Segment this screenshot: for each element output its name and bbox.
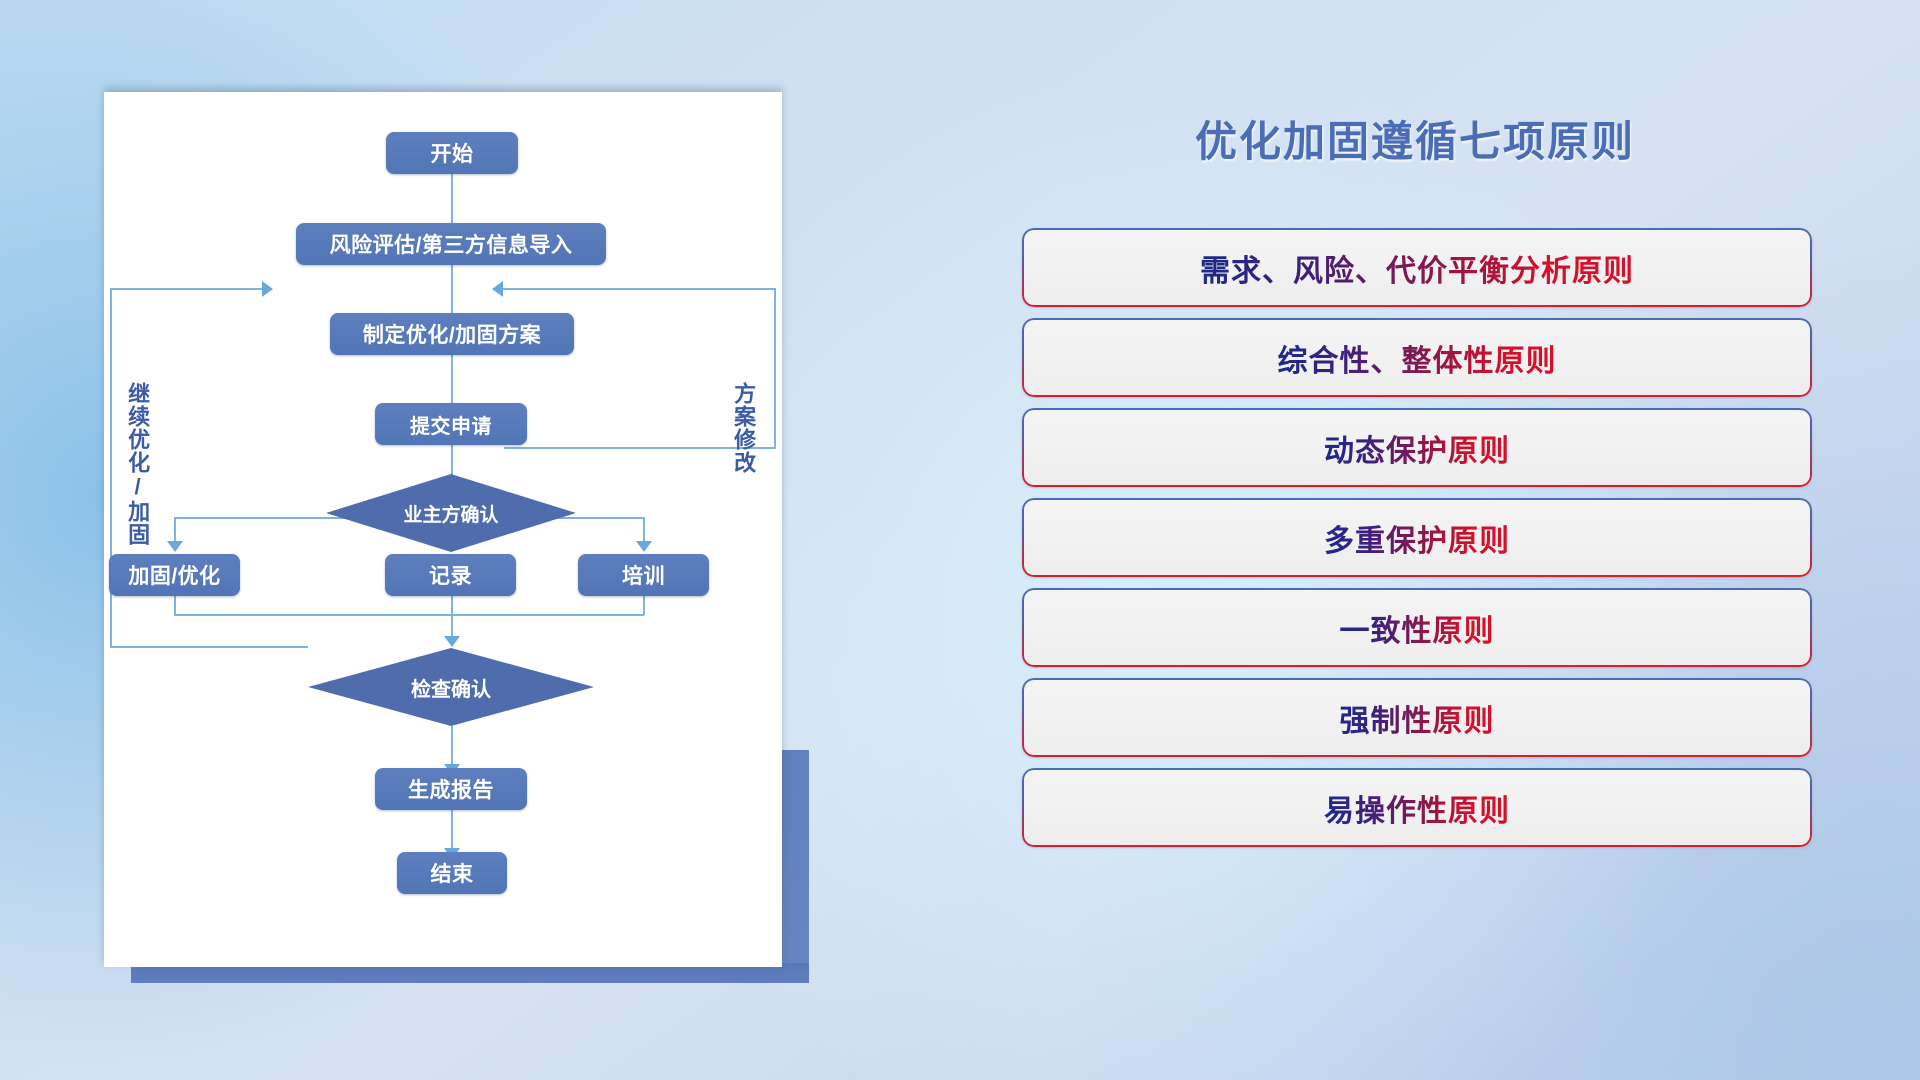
principle-label-1: 需求、风险、代价平衡分析原则 xyxy=(1200,246,1634,290)
principle-card-7[interactable]: 易操作性原则 xyxy=(1022,768,1812,847)
principle-label-4: 多重保护原则 xyxy=(1324,516,1510,560)
flow-node-end[interactable]: 结束 xyxy=(397,852,507,894)
principle-card-1[interactable]: 需求、风险、代价平衡分析原则 xyxy=(1022,228,1812,307)
arrowhead-branch-right xyxy=(636,541,652,552)
flow-node-report-label: 生成报告 xyxy=(408,774,494,804)
flow-node-owner-confirm[interactable]: 业主方确认 xyxy=(326,474,576,552)
flow-node-record[interactable]: 记录 xyxy=(385,554,516,596)
page-title: 优化加固遵循七项原则 xyxy=(1020,108,1810,169)
flow-node-start-label: 开始 xyxy=(431,138,474,168)
flow-node-submit[interactable]: 提交申请 xyxy=(375,403,527,445)
connector-left-loop-bottom xyxy=(110,646,308,648)
flow-node-plan-label: 制定优化/加固方案 xyxy=(363,319,541,349)
flow-node-end-label: 结束 xyxy=(431,858,474,888)
principle-label-3: 动态保护原则 xyxy=(1324,426,1510,470)
edge-label-continue-optimize: 继续优化/加固 xyxy=(126,382,149,546)
principle-card-6[interactable]: 强制性原则 xyxy=(1022,678,1812,757)
principle-card-2[interactable]: 综合性、整体性原则 xyxy=(1022,318,1812,397)
principle-card-3[interactable]: 动态保护原则 xyxy=(1022,408,1812,487)
connector-check-report xyxy=(451,726,453,768)
connector-report-end xyxy=(451,810,453,852)
flow-node-check-confirm[interactable]: 检查确认 xyxy=(308,648,594,726)
flow-node-check-confirm-label: 检查确认 xyxy=(411,673,491,702)
flow-node-training-label: 培训 xyxy=(622,560,665,590)
principle-card-4[interactable]: 多重保护原则 xyxy=(1022,498,1812,577)
flow-node-risk-assessment[interactable]: 风险评估/第三方信息导入 xyxy=(296,223,606,265)
flow-node-record-label: 记录 xyxy=(429,560,472,590)
principles-list: 需求、风险、代价平衡分析原则 综合性、整体性原则 动态保护原则 多重保护原则 一… xyxy=(1022,228,1812,858)
arrowhead-left-loop xyxy=(262,281,273,297)
slide-canvas: 开始 风险评估/第三方信息导入 制定优化/加固方案 提交申请 业主方确认 加固/… xyxy=(0,0,1920,1080)
flow-node-start[interactable]: 开始 xyxy=(386,132,518,174)
principle-label-6: 强制性原则 xyxy=(1340,696,1495,740)
principle-label-2: 综合性、整体性原则 xyxy=(1278,336,1557,380)
connector-plan-submit xyxy=(451,355,453,409)
principle-card-5[interactable]: 一致性原则 xyxy=(1022,588,1812,667)
flow-node-reinforce[interactable]: 加固/优化 xyxy=(109,554,240,596)
flow-node-risk-assessment-label: 风险评估/第三方信息导入 xyxy=(330,229,573,259)
connector-merge-bus xyxy=(174,614,644,616)
flow-node-submit-label: 提交申请 xyxy=(410,410,492,439)
arrowhead-right-loop xyxy=(492,281,503,297)
flow-node-reinforce-label: 加固/优化 xyxy=(128,560,220,590)
connector-right-loop-vertical xyxy=(774,288,776,448)
principle-label-5: 一致性原则 xyxy=(1340,606,1495,650)
flow-node-training[interactable]: 培训 xyxy=(578,554,709,596)
arrowhead-merge-check xyxy=(444,636,460,647)
flow-node-owner-confirm-label: 业主方确认 xyxy=(403,500,498,527)
arrowhead-branch-left xyxy=(167,541,183,552)
connector-right-loop-top xyxy=(503,288,775,290)
flow-node-plan[interactable]: 制定优化/加固方案 xyxy=(330,313,574,355)
edge-label-plan-revision: 方案修改 xyxy=(732,382,755,474)
flowchart-card: 开始 风险评估/第三方信息导入 制定优化/加固方案 提交申请 业主方确认 加固/… xyxy=(104,92,782,967)
connector-left-loop-top xyxy=(110,288,265,290)
principle-label-7: 易操作性原则 xyxy=(1324,786,1510,830)
flow-node-report[interactable]: 生成报告 xyxy=(375,768,527,810)
